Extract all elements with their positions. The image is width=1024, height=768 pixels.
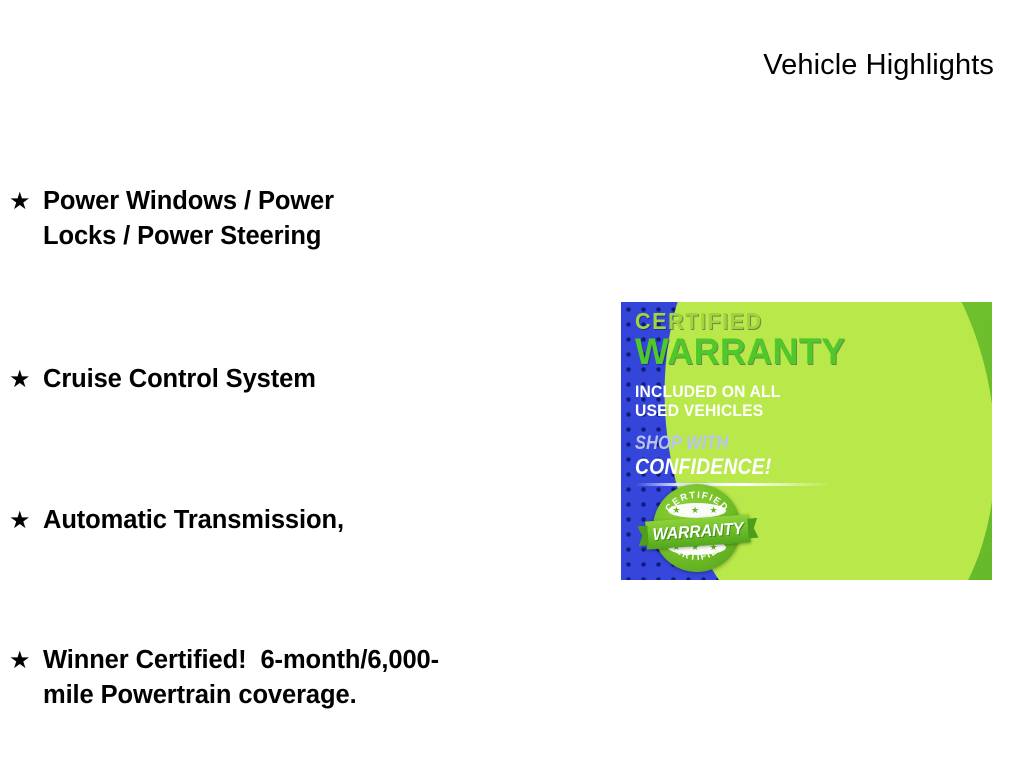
list-item: ★ Cruise Control System (8, 358, 608, 402)
certified-warranty-seal-icon: CERTIFIED CERTIFIED ★ ★ ★ ★ ★ ★ WARRANTY (646, 484, 750, 574)
list-item-label: Winner Certified! 6-month/6,000- mile Po… (43, 639, 608, 713)
star-bullet-icon: ★ (8, 499, 43, 543)
banner-subline: INCLUDED ON ALL USED VEHICLES (635, 382, 847, 421)
banner-tagline-confidence: CONFIDENCE! (635, 456, 837, 478)
banner-copy: CERTIFIED WARRANTY INCLUDED ON ALL USED … (635, 310, 865, 486)
banner-tagline-shop-with: SHOP WITH (635, 434, 833, 453)
star-bullet-icon: ★ (8, 358, 43, 402)
slide-canvas: Vehicle Highlights ★ Power Windows / Pow… (0, 0, 1024, 768)
list-item: ★ Power Windows / Power Locks / Power St… (8, 180, 608, 254)
list-item-label: Automatic Transmission, (43, 499, 608, 538)
list-item: ★ Automatic Transmission, (8, 499, 608, 543)
list-item-label: Cruise Control System (43, 358, 608, 397)
page-title: Vehicle Highlights (0, 48, 994, 83)
banner-headline-certified: CERTIFIED (635, 310, 851, 333)
star-bullet-icon: ★ (8, 639, 43, 683)
list-item-label: Power Windows / Power Locks / Power Stee… (43, 180, 608, 254)
banner-artwork: CERTIFIED WARRANTY INCLUDED ON ALL USED … (621, 302, 992, 580)
star-bullet-icon: ★ (8, 180, 43, 224)
list-item: ★ Winner Certified! 6-month/6,000- mile … (8, 639, 608, 713)
certified-warranty-banner: CERTIFIED WARRANTY INCLUDED ON ALL USED … (621, 302, 992, 580)
banner-headline-warranty: WARRANTY (635, 334, 858, 370)
